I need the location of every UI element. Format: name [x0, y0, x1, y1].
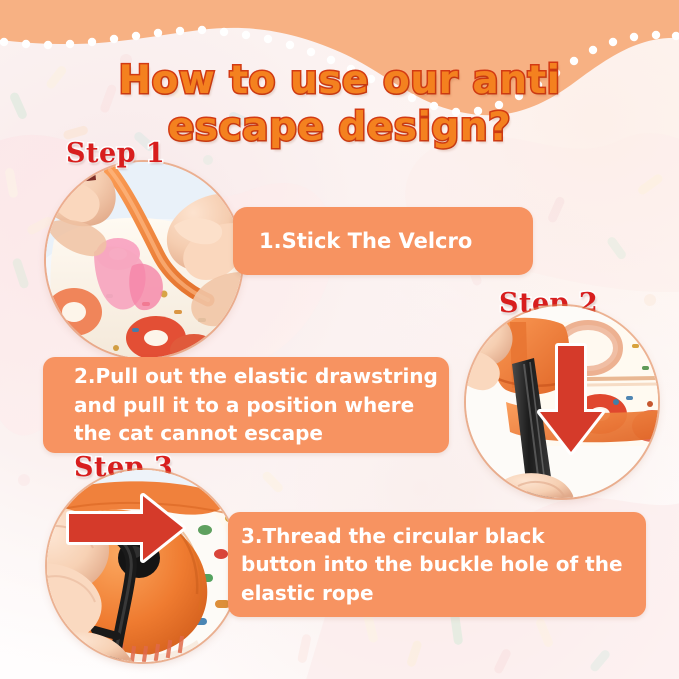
step-3-banner-line-3: elastic rope [241, 579, 646, 607]
step-3-banner-line-1: 3.Thread the circular black [241, 522, 646, 550]
step-3-banner: 3.Thread the circular black button into … [228, 512, 646, 617]
step-2-photo [466, 306, 658, 498]
step-2-image [466, 306, 658, 498]
page-title-line-1: How to use our anti [0, 58, 679, 103]
step-1-image [46, 162, 242, 358]
step-1-banner-line-1: 1.Stick The Velcro [259, 229, 533, 253]
step-3-photo [47, 470, 239, 662]
step-2-banner-line-1: 2.Pull out the elastic drawstring [74, 362, 449, 390]
step-2-banner: 2.Pull out the elastic drawstring and pu… [43, 357, 449, 453]
step-1-photo [46, 162, 242, 358]
infographic-poster: How to use our anti escape design? [0, 0, 679, 679]
step-2-banner-line-2: and pull it to a position where [74, 391, 449, 419]
step-3-image [47, 470, 239, 662]
step-1-label: Step 1 [66, 138, 165, 169]
step-2-banner-line-3: the cat cannot escape [74, 419, 449, 447]
step-1-banner: 1.Stick The Velcro [233, 207, 533, 275]
step-3-banner-line-2: button into the buckle hole of the [241, 550, 646, 578]
